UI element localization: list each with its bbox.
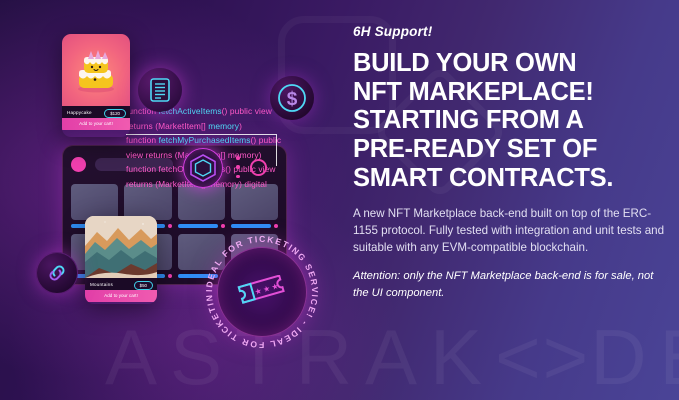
headline-line: SMART CONTRACTS. — [353, 164, 665, 193]
nft-card-price: $120 — [104, 109, 126, 118]
code-line: function fetchMyPurchasedItems() public — [126, 133, 294, 148]
link-icon — [36, 252, 78, 294]
ticketing-badge: IDEAL FOR TICKETING SERVICE! - IDEAL FOR… — [203, 233, 321, 351]
nft-card-image-mountains — [85, 216, 157, 278]
more-options-icon[interactable] — [236, 156, 240, 178]
nft-thumb — [71, 184, 118, 220]
nft-card-mountains[interactable]: Mountains $50 Add to your cart! — [85, 216, 157, 304]
document-icon — [138, 68, 182, 112]
headline-line: BUILD YOUR OWN — [353, 49, 665, 78]
svg-text:★★★: ★★★ — [254, 281, 281, 297]
headline-line: NFT MARKEPLACE! — [353, 78, 665, 107]
body-paragraph: A new NFT Marketplace back-end built on … — [353, 206, 665, 256]
watermark-brand-diamond: <> — [495, 313, 590, 400]
nft-card-footer-cake: Happycake $120 — [62, 106, 130, 118]
code-underline — [126, 134, 276, 135]
mountains-illustration-icon — [85, 216, 157, 278]
code-line: returns (MarketItem[] memory) — [126, 119, 294, 134]
dashboard-dot-icon — [71, 157, 86, 172]
nft-meta — [178, 223, 225, 228]
ticket-icon: ★★★ — [235, 275, 289, 309]
dollar-glyph: $ — [277, 83, 307, 113]
nft-card-image-cake — [62, 34, 130, 106]
promo-banner: ASTRAK<>DE function fetchActiveItems() p… — [0, 0, 679, 400]
code-vertical-rule — [276, 134, 277, 166]
watermark-brand-part2: DE — [590, 313, 679, 400]
nft-card-cake[interactable]: Happycake $120 Add to your cart! — [62, 34, 130, 137]
nft-card-price: $50 — [134, 281, 153, 290]
cake-illustration-icon — [71, 48, 121, 94]
nft-card-footer-mountains: Mountains $50 — [85, 278, 157, 290]
svg-text:$: $ — [287, 89, 298, 110]
dollar-icon: $ — [270, 76, 314, 120]
illustration-group: function fetchActiveItems() public view … — [0, 0, 340, 400]
document-glyph — [150, 78, 170, 102]
headline-line: STARTING FROM A — [353, 106, 665, 135]
add-to-cart-button[interactable]: Add to your cart! — [85, 290, 157, 302]
eyebrow-text: 6H Support! — [353, 24, 665, 39]
add-to-cart-button[interactable]: Add to your cart! — [62, 118, 130, 130]
copy-block: 6H Support! BUILD YOUR OWN NFT MARKEPLAC… — [353, 24, 665, 301]
nft-meta — [231, 223, 278, 228]
page-title: BUILD YOUR OWN NFT MARKEPLACE! STARTING … — [353, 49, 665, 192]
link-glyph — [46, 262, 68, 284]
headline-line: PRE-READY SET OF — [353, 135, 665, 164]
hexagon-logo-icon — [183, 148, 223, 188]
attention-note: Attention: only the NFT Marketplace back… — [353, 268, 665, 302]
badge-core: ★★★ — [217, 247, 307, 337]
circle-outline-icon[interactable] — [250, 159, 267, 176]
hexagon-glyph — [190, 154, 216, 182]
